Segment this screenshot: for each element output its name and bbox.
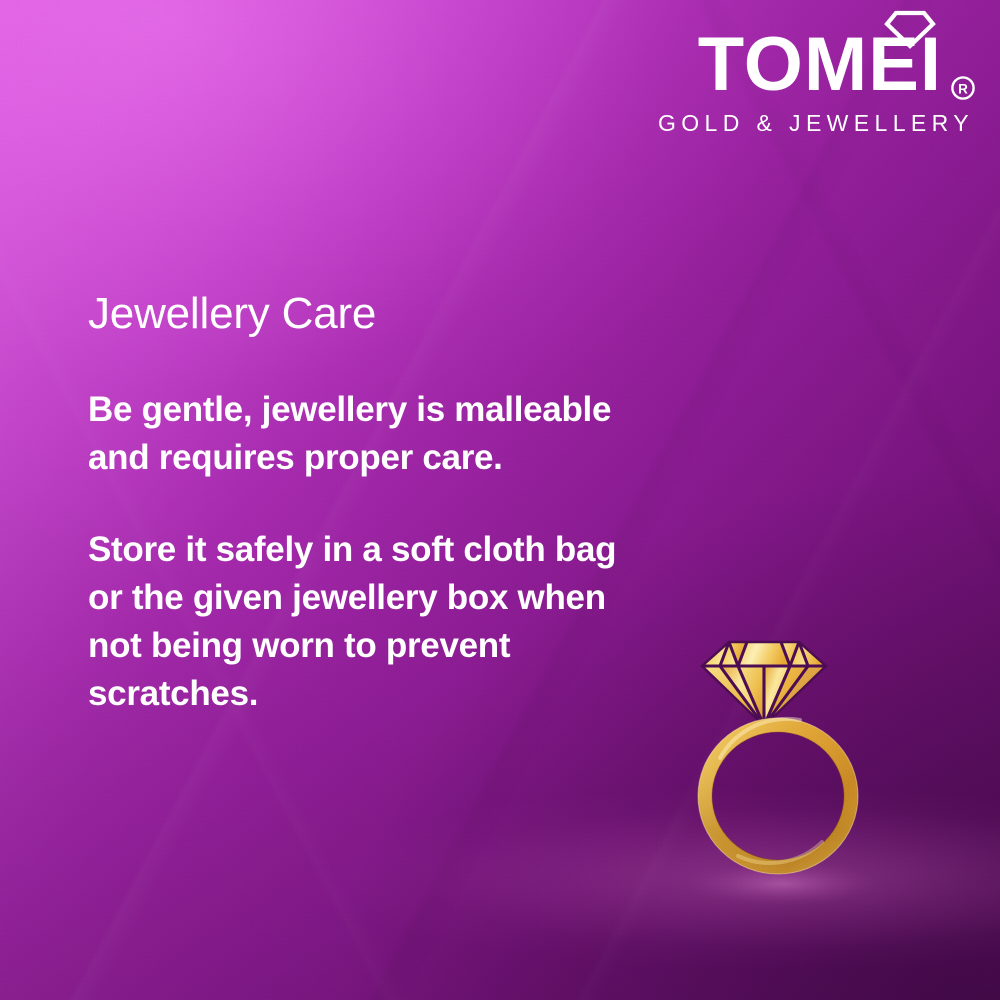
poster-canvas: TOMEI R GOLD & JEWELLERY Jewellery Care … [0,0,1000,1000]
logo-wordmark-row: TOMEI R [648,26,978,104]
brand-logo: TOMEI R GOLD & JEWELLERY [648,26,978,136]
copy-block: Jewellery Care Be gentle, jewellery is m… [88,288,668,718]
svg-text:R: R [958,81,968,96]
body-paragraph-1: Be gentle, jewellery is malleable and re… [88,386,648,482]
diamond-ring-graphic [690,628,890,908]
logo-tagline-text: GOLD & JEWELLERY [648,110,978,136]
body-paragraph-2: Store it safely in a soft cloth bag or t… [88,526,648,718]
logo-wordmark-text: TOMEI [698,26,942,104]
registered-trademark-icon: R [950,75,976,101]
ring-band-icon [690,628,890,908]
page-title: Jewellery Care [88,288,668,340]
